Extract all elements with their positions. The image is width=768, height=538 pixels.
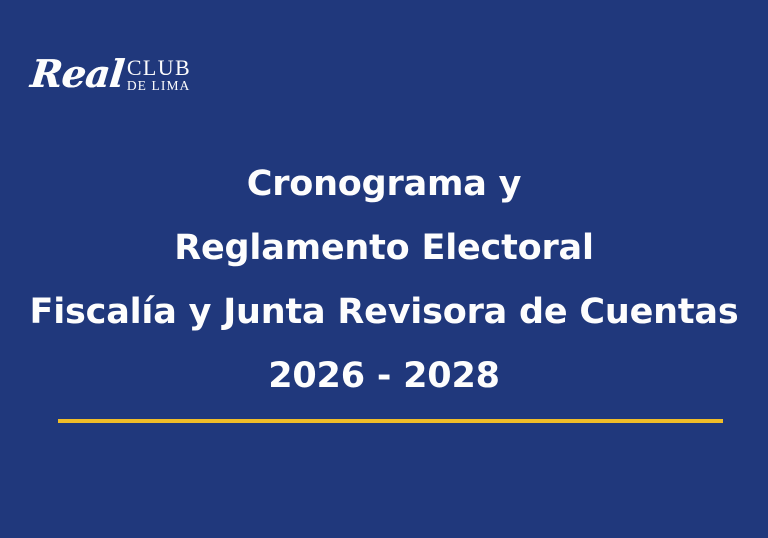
logo-wordmark: CLUB DE LIMA [127,57,191,94]
logo-script-word: Real [29,55,126,93]
gold-divider [58,419,723,423]
logo-location-word: DE LIMA [127,79,191,93]
title-line-3: Fiscalía y Junta Revisora de Cuentas [0,280,768,344]
title-line-4: 2026 - 2028 [0,344,768,408]
page-title: Cronograma y Reglamento Electoral Fiscal… [0,152,768,408]
title-line-1: Cronograma y [0,152,768,216]
logo-club-word: CLUB [127,57,191,79]
title-line-2: Reglamento Electoral [0,216,768,280]
real-club-de-lima-logo: Real CLUB DE LIMA [31,44,181,100]
slide-canvas: Real CLUB DE LIMA Cronograma y Reglament… [0,0,768,538]
